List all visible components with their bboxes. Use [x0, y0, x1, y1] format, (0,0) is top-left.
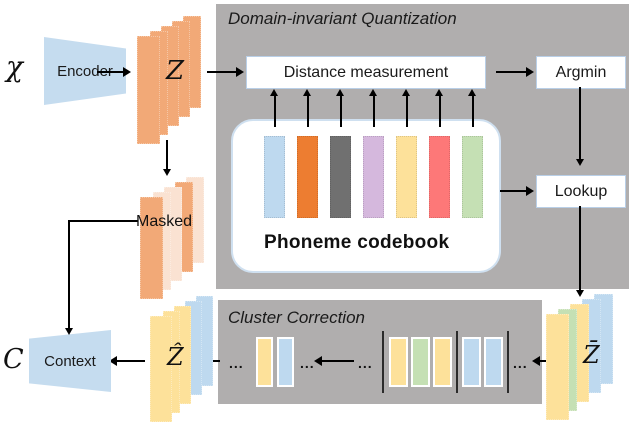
- codebook-arrow-head-0: [270, 89, 278, 96]
- lookup-box[interactable]: Lookup: [536, 175, 626, 208]
- argmin-box[interactable]: Argmin: [536, 56, 626, 89]
- codebook-entry-purple[interactable]: [363, 136, 384, 218]
- cluster-divider-1: [456, 331, 458, 393]
- codebook-arrow-line-1: [307, 96, 309, 127]
- distance-to-argmin-line: [496, 71, 526, 73]
- lookup-label: Lookup: [555, 183, 608, 201]
- cluster-divider-0: [382, 331, 384, 393]
- codebook-entry-gray[interactable]: [330, 136, 351, 218]
- codebook-arrow-line-3: [373, 96, 375, 127]
- cluster-correction-panel-title: Cluster Correction: [228, 308, 365, 328]
- z-to-masked-head: [163, 169, 171, 176]
- codebook-entry-yellow[interactable]: [396, 136, 417, 218]
- lookup-to-zbar-line: [579, 206, 581, 290]
- cluster-ellipsis-right: ...: [513, 355, 528, 371]
- masked-to-context-horizontal: [68, 220, 138, 222]
- codebook-arrow-line-4: [406, 96, 408, 127]
- z-to-distance-head: [236, 67, 244, 77]
- zbar-to-cluster-head: [532, 356, 540, 366]
- codebook-arrow-head-5: [435, 89, 443, 96]
- context-output-symbol: C: [3, 344, 24, 375]
- z-to-distance-line: [207, 71, 236, 73]
- z-layer-0: [137, 36, 160, 144]
- cluster-internal-arrow-head: [314, 356, 322, 366]
- codebook-arrow-head-2: [336, 89, 344, 96]
- raw-token-blue-2[interactable]: [484, 337, 503, 387]
- z-stack-label: Z: [166, 56, 184, 86]
- raw-token-green[interactable]: [411, 337, 430, 387]
- codebook-arrow-head-1: [303, 89, 311, 96]
- masked-to-context-vertical: [68, 220, 70, 328]
- cluster-internal-arrow-line: [322, 360, 354, 362]
- raw-token-yellow-1[interactable]: [389, 337, 408, 387]
- cluster-ellipsis-mid-right: ...: [358, 355, 373, 371]
- argmin-to-lookup-head: [576, 159, 584, 166]
- masked-stack-label: Masked: [136, 213, 192, 231]
- corrected-token-blue[interactable]: [277, 337, 294, 387]
- codebook-entry-salmon[interactable]: [429, 136, 450, 218]
- phoneme-codebook-label: Phoneme codebook: [264, 232, 449, 254]
- codebook-arrow-line-2: [340, 96, 342, 127]
- distance-measurement-box[interactable]: Distance measurement: [246, 56, 486, 89]
- zbar-stack-label: Z̄: [583, 341, 600, 369]
- context-label: Context: [44, 353, 96, 370]
- masked-to-context-head: [65, 328, 73, 335]
- distance-measurement-label: Distance measurement: [284, 64, 449, 82]
- context-block[interactable]: Context: [29, 330, 111, 392]
- cluster-ellipsis-left: ...: [229, 355, 244, 371]
- codebook-arrow-head-6: [468, 89, 476, 96]
- zhat-to-context-line: [117, 360, 145, 362]
- codebook-to-lookup-line: [500, 190, 526, 192]
- codebook-arrow-line-0: [274, 96, 276, 127]
- codebook-entry-green[interactable]: [462, 136, 483, 218]
- zbar-layer-0: [546, 314, 569, 420]
- diagram-canvas: Domain-invariant Quantization Distance m…: [0, 0, 640, 413]
- zhat-stack-label: Ẑ: [167, 343, 184, 371]
- codebook-to-lookup-head: [526, 186, 534, 196]
- codebook-entry-blue[interactable]: [264, 136, 285, 218]
- codebook-arrow-line-5: [439, 96, 441, 127]
- codebook-arrow-line-6: [472, 96, 474, 127]
- encoder-to-z-head: [123, 67, 131, 77]
- quantization-panel-title: Domain-invariant Quantization: [228, 9, 457, 29]
- argmin-to-lookup-line: [579, 87, 581, 159]
- encoder-to-z-line: [97, 71, 123, 73]
- argmin-label: Argmin: [556, 64, 607, 82]
- codebook-arrow-head-4: [402, 89, 410, 96]
- distance-to-argmin-head: [526, 67, 534, 77]
- cluster-divider-2: [507, 331, 509, 393]
- lookup-to-zbar-head: [576, 290, 584, 297]
- z-to-masked-line: [166, 140, 168, 172]
- codebook-arrow-head-3: [369, 89, 377, 96]
- input-symbol: χ: [6, 50, 23, 83]
- raw-token-blue-1[interactable]: [462, 337, 481, 387]
- raw-token-yellow-2[interactable]: [433, 337, 452, 387]
- corrected-token-yellow[interactable]: [256, 337, 273, 387]
- codebook-entry-orange[interactable]: [297, 136, 318, 218]
- cluster-ellipsis-mid-left: ...: [300, 355, 315, 371]
